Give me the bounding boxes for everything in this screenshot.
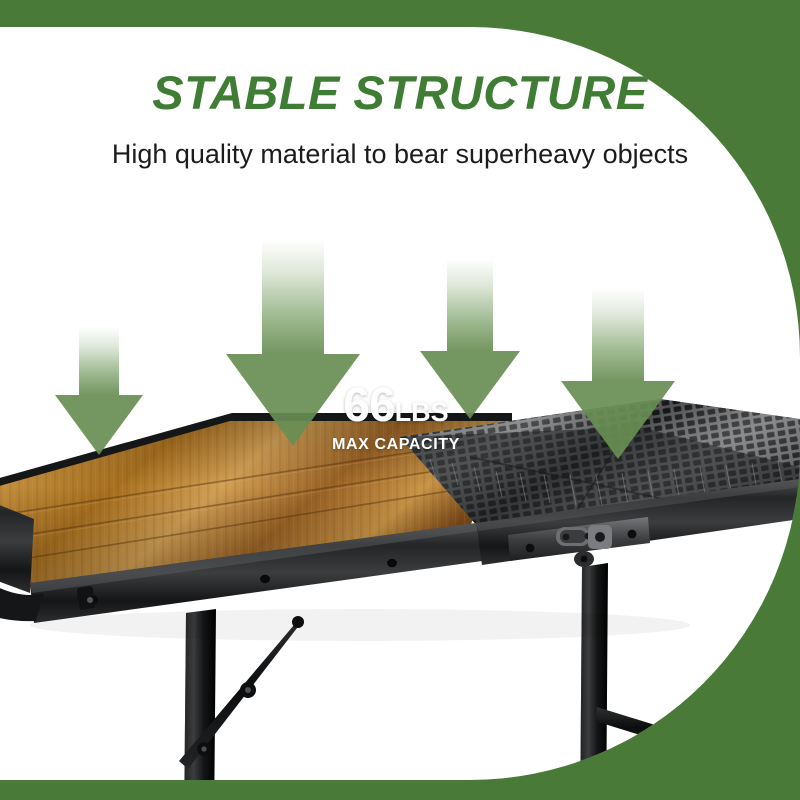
arrow-2-down-icon	[225, 239, 360, 446]
arrow-shaft	[447, 259, 493, 351]
arrow-shaft	[262, 239, 324, 354]
arrow-3-down-icon	[420, 259, 520, 419]
arrow-shaft	[79, 327, 119, 395]
product-feature-poster: 66LBS MAX CAPACITY STABLE STRUCTURE High…	[0, 0, 800, 800]
arrow-shaft	[592, 289, 644, 381]
right-leg	[580, 563, 608, 780]
white-content-card: 66LBS MAX CAPACITY STABLE STRUCTURE High…	[0, 27, 800, 780]
arrow-head	[420, 351, 520, 419]
arrow-1-down-icon	[55, 327, 143, 455]
arrow-head	[55, 395, 143, 455]
arrow-head	[561, 381, 675, 459]
arrow-head	[226, 354, 360, 446]
edge-latch	[77, 586, 96, 610]
right-leg-brace	[595, 707, 700, 753]
arrow-4-down-icon	[560, 289, 675, 459]
